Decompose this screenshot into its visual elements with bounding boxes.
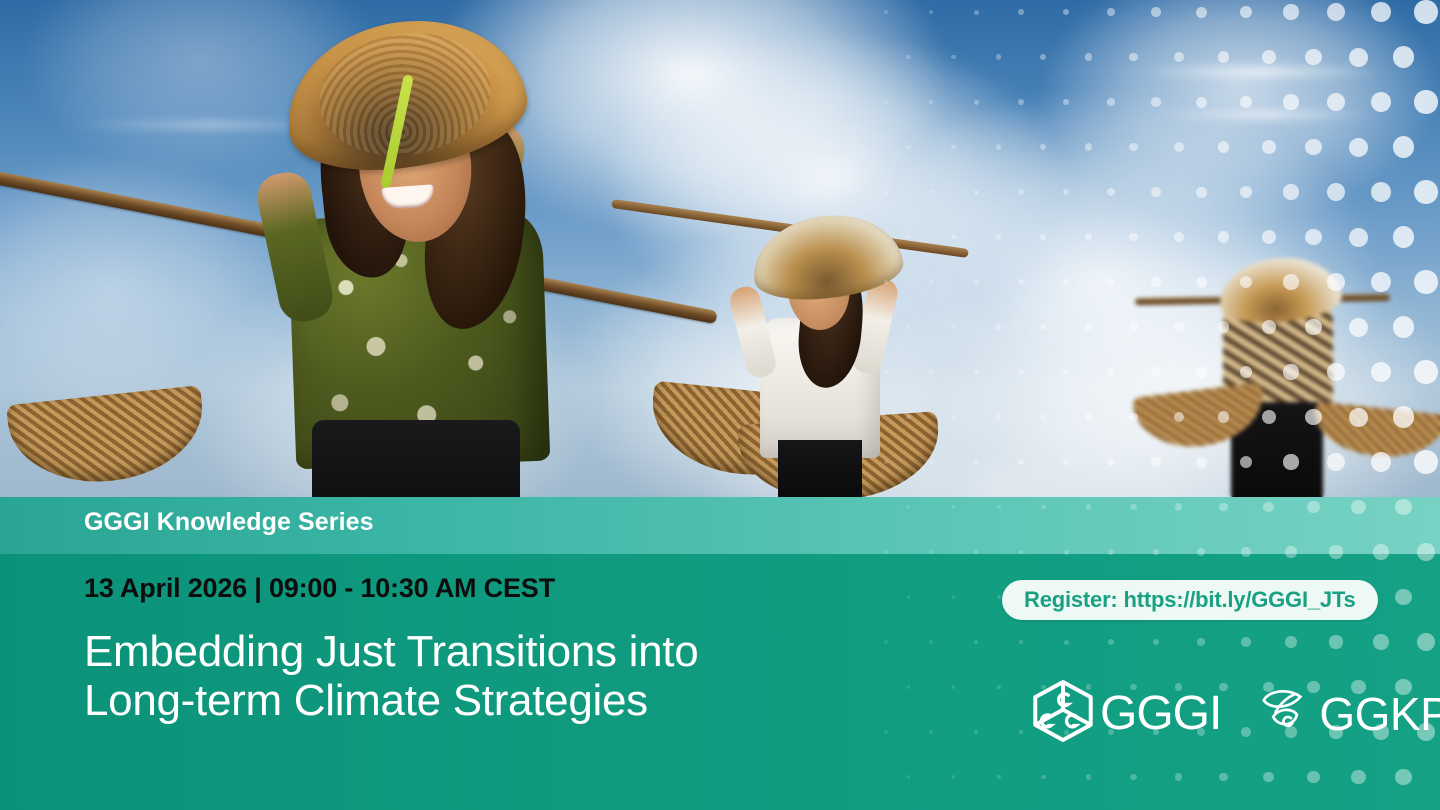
event-banner: GGGI Knowledge Series 13 April 2026 | 09…: [0, 0, 1440, 810]
logo-row: GGGI GGKP: [1030, 678, 1440, 749]
person-middle: [660, 200, 980, 497]
cloud-streak: [1130, 66, 1390, 78]
leaf-swirl-icon: [1255, 679, 1315, 748]
title-line-2: Long-term Climate Strategies: [84, 676, 698, 725]
person-background: [1135, 250, 1435, 497]
event-datetime: 13 April 2026 | 09:00 - 10:30 AM CEST: [84, 573, 555, 604]
hexagon-cube-icon: [1030, 678, 1096, 749]
page-title: Embedding Just Transitions into Long-ter…: [84, 627, 698, 726]
ggkp-logo: GGKP: [1255, 679, 1440, 748]
register-label: Register: https://bit.ly/GGGI_JTs: [1024, 587, 1356, 613]
ggkp-wordmark: GGKP: [1319, 691, 1440, 737]
trousers: [778, 440, 862, 497]
gggi-logo: GGGI: [1030, 678, 1221, 749]
hero-photo: [0, 0, 1440, 497]
title-line-1: Embedding Just Transitions into: [84, 627, 698, 676]
register-link-button[interactable]: Register: https://bit.ly/GGGI_JTs: [1002, 580, 1378, 620]
gggi-wordmark: GGGI: [1100, 690, 1221, 738]
trousers: [312, 420, 520, 497]
cloud-streak: [1150, 110, 1380, 119]
woven-basket: [1311, 401, 1440, 462]
person-foreground: [30, 10, 550, 497]
series-kicker: GGGI Knowledge Series: [84, 508, 374, 537]
